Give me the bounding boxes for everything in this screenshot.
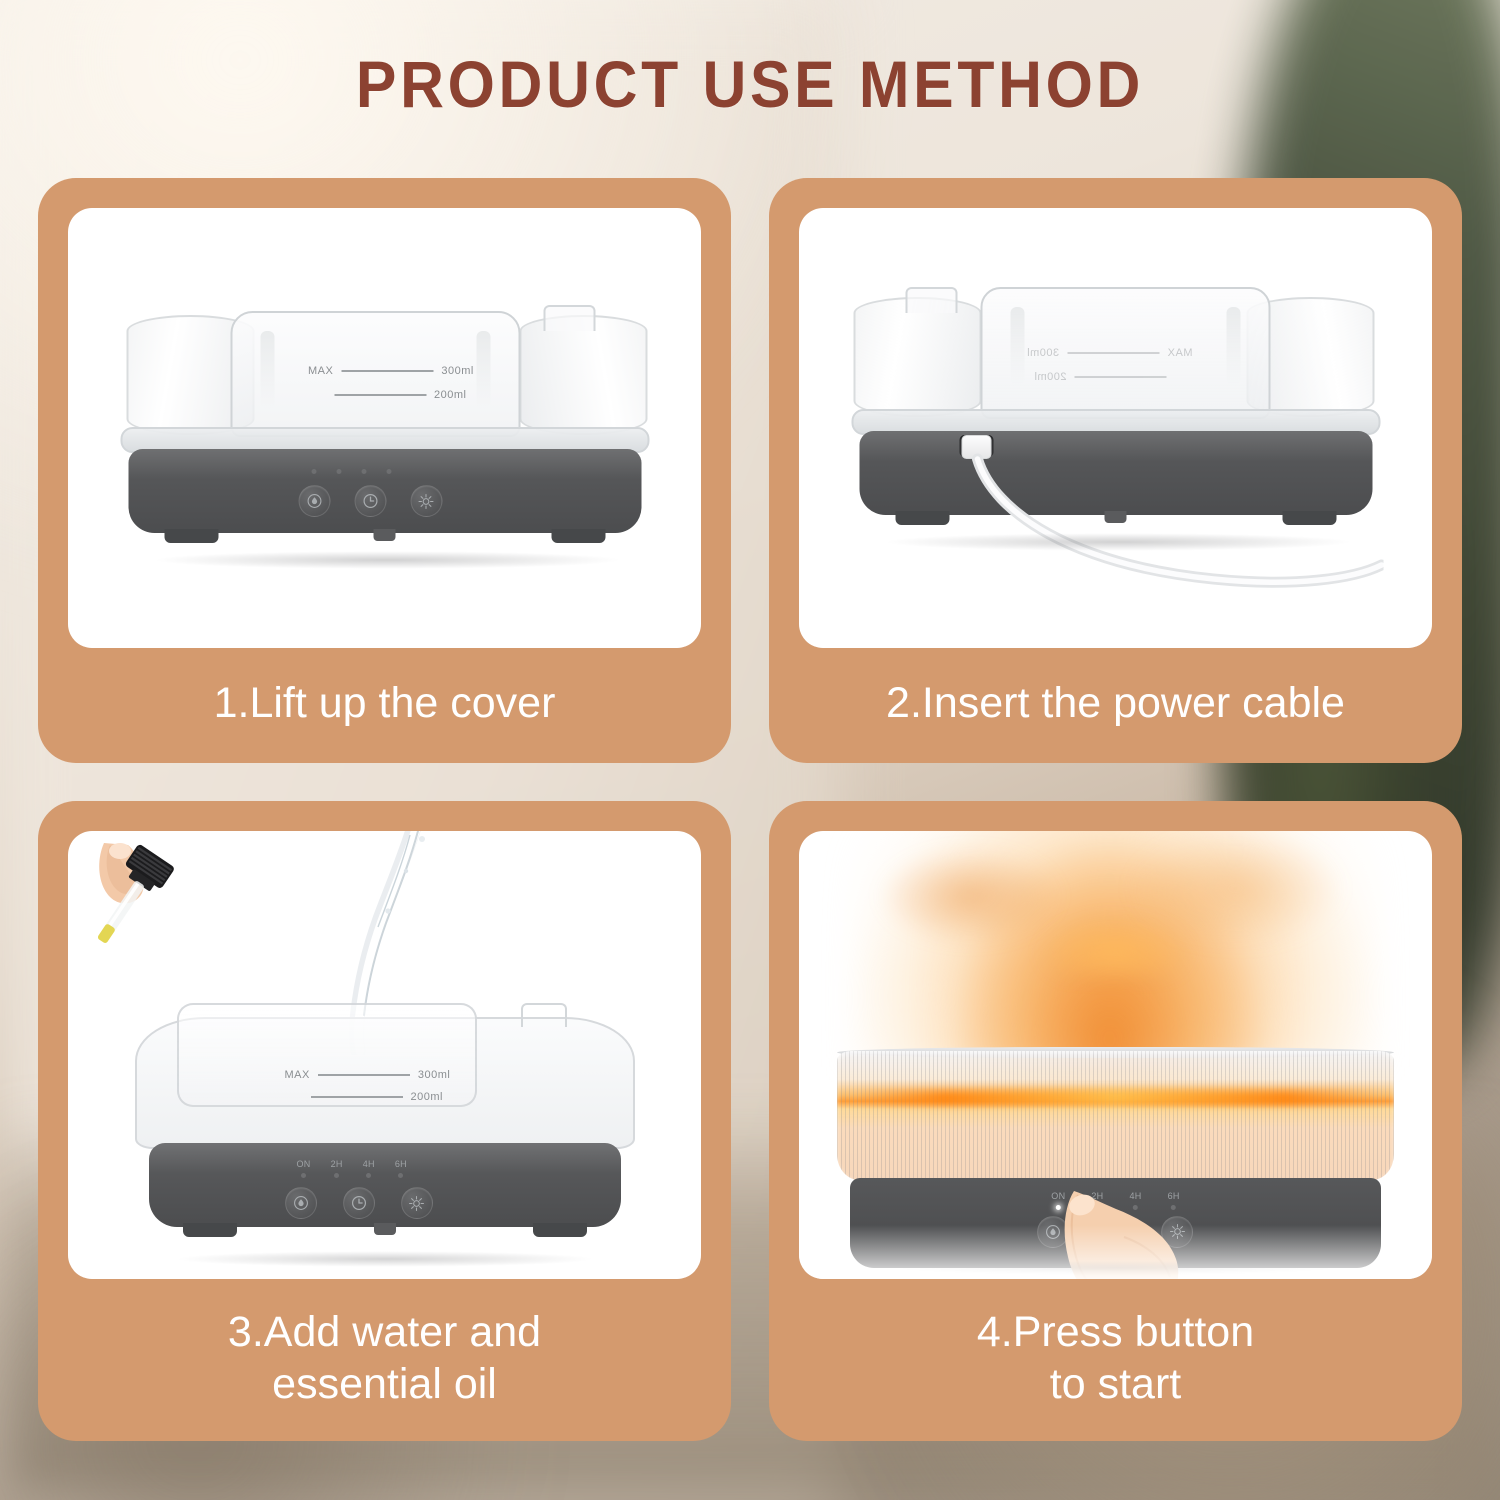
- flame-light-button[interactable]: [401, 1187, 433, 1219]
- level-rule: [318, 1074, 410, 1076]
- step-3-caption: 3.Add water and essential oil: [68, 1279, 701, 1441]
- tank-level-300-mirrored: MAX 300ml: [1026, 347, 1192, 359]
- level-rule: [1067, 352, 1159, 354]
- led-2h: [336, 469, 341, 474]
- led-6h: [386, 469, 391, 474]
- device-shadow: [175, 1251, 595, 1267]
- step-2-caption: 2.Insert the power cable: [799, 648, 1432, 763]
- flame-glow-band: [850, 1091, 1382, 1104]
- step-4-caption: 4.Press button to start: [799, 1279, 1432, 1441]
- flame-core: [1040, 916, 1192, 976]
- max-label: MAX: [308, 365, 333, 377]
- step-1-image: MAX 300ml 200ml: [68, 208, 701, 648]
- step-card-1: MAX 300ml 200ml: [38, 178, 731, 763]
- humidifier-exploded-illustration: MAX 300ml 200ml: [112, 303, 657, 553]
- humidifier-running-illustration: ON 2H 4H 6H: [799, 831, 1432, 1279]
- level-rule: [341, 370, 433, 372]
- timer-button[interactable]: [343, 1187, 375, 1219]
- step-4-caption-line1: 4.Press button: [799, 1306, 1432, 1358]
- step-3-image: MAX 300ml 200ml ON: [68, 831, 701, 1279]
- led-group-6h: 6H: [395, 1159, 407, 1178]
- step-1-caption-line1: 1.Lift up the cover: [68, 677, 701, 729]
- step-3-caption-line1: 3.Add water and: [68, 1306, 701, 1358]
- device-base: ON 2H 4H 6H: [149, 1143, 621, 1227]
- led-4h: [361, 469, 366, 474]
- tank-level-200: 200ml: [334, 389, 466, 401]
- step-2-image: MAX 300ml 200ml: [799, 208, 1432, 648]
- step-card-2: MAX 300ml 200ml: [769, 178, 1462, 763]
- tank-right-cylinder: [519, 315, 647, 435]
- image-fade-bottom: [799, 1225, 1432, 1279]
- tank-level-300: MAX 300ml: [308, 365, 474, 377]
- level-200-label: 200ml: [411, 1091, 443, 1103]
- base-sheen: [128, 449, 641, 479]
- flame-mist: [799, 831, 1432, 1082]
- base-center-notch: [374, 529, 396, 541]
- led-6h: [398, 1173, 403, 1178]
- max-label: MAX: [285, 1069, 310, 1081]
- base-foot-right: [895, 511, 949, 525]
- mist-spout: [543, 305, 595, 331]
- max-label: MAX: [1167, 347, 1192, 359]
- base-foot-left: [164, 529, 218, 543]
- level-300-label: 300ml: [441, 365, 473, 377]
- device-shadow: [883, 533, 1353, 551]
- step-1-caption: 1.Lift up the cover: [68, 648, 701, 763]
- mist-button[interactable]: [298, 485, 330, 517]
- base-foot-right: [533, 1223, 587, 1237]
- level-300-label: 300ml: [1026, 347, 1058, 359]
- step-3-caption-line2: essential oil: [68, 1358, 701, 1410]
- mist-spout: [521, 1003, 567, 1027]
- steps-grid: MAX 300ml 200ml: [38, 178, 1462, 1463]
- level-rule: [311, 1096, 403, 1098]
- led-on: [311, 469, 316, 474]
- device-shadow: [152, 551, 622, 569]
- flame-light-button[interactable]: [410, 485, 442, 517]
- tank-level-200-mirrored: 200ml: [1034, 371, 1166, 383]
- humidifier-open-tank-illustration: MAX 300ml 200ml ON: [135, 993, 635, 1253]
- indicator-leds: ON 2H 4H 6H: [297, 1159, 407, 1178]
- level-rule: [334, 394, 426, 396]
- led-group-2h: 2H: [331, 1159, 343, 1178]
- level-200-label: 200ml: [1034, 371, 1066, 383]
- led-label-6h: 6H: [395, 1159, 407, 1169]
- page-title: PRODUCT USE METHOD: [60, 46, 1440, 122]
- base-center-notch: [374, 1223, 396, 1235]
- level-200-label: 200ml: [434, 389, 466, 401]
- mist-spout: [905, 287, 957, 313]
- level-rule: [1074, 376, 1166, 378]
- base-foot-right: [551, 529, 605, 543]
- humidifier-rear-illustration: MAX 300ml 200ml: [843, 285, 1388, 535]
- base-foot-left: [183, 1223, 237, 1237]
- step-4-caption-line2: to start: [799, 1358, 1432, 1410]
- led-4h: [366, 1173, 371, 1178]
- led-label-2h: 2H: [331, 1159, 343, 1169]
- step-card-4: ON 2H 4H 6H: [769, 801, 1462, 1441]
- tank-level-300: MAX 300ml: [285, 1069, 451, 1081]
- control-buttons: [298, 485, 442, 517]
- tank-right-cylinder: [853, 297, 981, 417]
- step-4-image: ON 2H 4H 6H: [799, 831, 1432, 1279]
- level-300-label: 300ml: [418, 1069, 450, 1081]
- led-label-on: ON: [297, 1159, 311, 1169]
- control-buttons: [285, 1187, 433, 1219]
- power-cable: [963, 453, 1383, 603]
- indicator-leds: [311, 469, 391, 474]
- oil-dropper: [94, 839, 284, 989]
- tank-level-200: 200ml: [311, 1091, 443, 1103]
- led-group-on: ON: [297, 1159, 311, 1178]
- step-2-caption-line1: 2.Insert the power cable: [799, 677, 1432, 729]
- led-label-4h: 4H: [363, 1159, 375, 1169]
- led-group-4h: 4H: [363, 1159, 375, 1178]
- step-card-3: MAX 300ml 200ml ON: [38, 801, 731, 1441]
- ribbed-cover: [837, 1051, 1394, 1181]
- led-2h: [334, 1173, 339, 1178]
- timer-button[interactable]: [354, 485, 386, 517]
- mist-button[interactable]: [285, 1187, 317, 1219]
- device-base: [128, 449, 641, 533]
- led-on: [301, 1173, 306, 1178]
